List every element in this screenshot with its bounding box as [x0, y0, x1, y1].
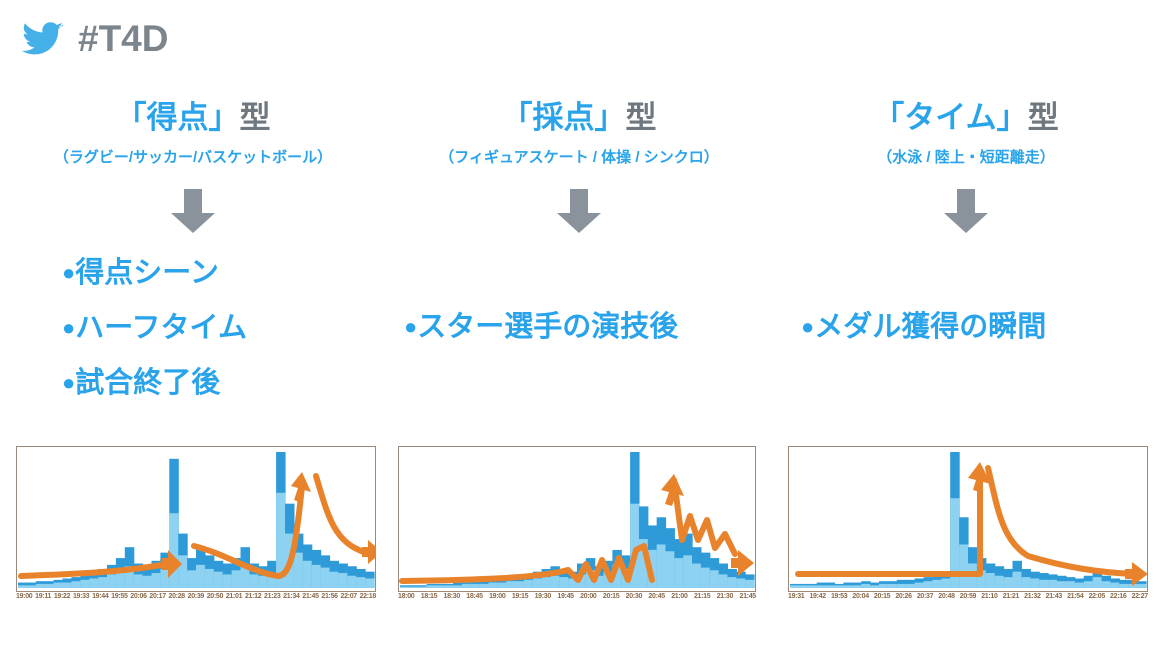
list-item: ●スター選手の演技後 — [404, 313, 772, 342]
chart-judging: 18:0018:1518:3018:4519:0019:1519:3019:45… — [398, 446, 756, 600]
column-title-suffix: 型 — [626, 100, 657, 135]
column-title-quoted: 「採点」 — [502, 100, 626, 135]
bar-sub — [152, 573, 162, 588]
bar-sub — [1119, 584, 1129, 588]
column-subtitle-scoring: （ラグビー/サッカー/バスケットボール） — [0, 146, 386, 167]
x-tick-label: 20:59 — [960, 593, 976, 600]
bar-sub — [1057, 581, 1067, 588]
bar-sub — [36, 584, 46, 588]
list-item-label: ハーフタイム — [75, 312, 247, 344]
chart-judging-plot — [398, 446, 756, 592]
bar-sub — [312, 565, 322, 588]
bar-sub — [888, 584, 898, 588]
x-tick-label: 21:45 — [302, 593, 318, 600]
bar-sub — [143, 576, 153, 588]
bar-sub — [1075, 583, 1085, 588]
chart-judging-xaxis: 18:0018:1518:3018:4519:0019:1519:3019:45… — [398, 593, 756, 600]
bar-sub — [223, 574, 233, 588]
bar-sub — [799, 585, 809, 588]
x-tick-label: 18:45 — [466, 593, 482, 600]
column-subtitle-judging: （フィギュアスケート / 体操 / シンクロ） — [386, 146, 772, 167]
column-title-judging: 「採点」型 — [386, 100, 772, 136]
bar-sub — [471, 584, 480, 588]
bar-sub — [533, 578, 542, 588]
list-item: ●ハーフタイム — [62, 314, 386, 343]
x-tick-label: 21:15 — [694, 593, 710, 600]
list-item: ●メダル獲得の瞬間 — [801, 313, 1159, 342]
x-tick-label: 21:34 — [283, 593, 299, 600]
bar-sub — [843, 585, 853, 588]
x-tick-label: 19:55 — [111, 593, 127, 600]
bullet-list-judging: ●スター選手の演技後 — [386, 313, 772, 342]
x-tick-label: 19:45 — [557, 593, 573, 600]
x-tick-label: 19:31 — [788, 593, 804, 600]
bar-sub — [924, 581, 934, 588]
bar-sub — [550, 576, 559, 588]
x-tick-label: 20:28 — [169, 593, 185, 600]
bar-sub — [249, 574, 259, 588]
bar-sub — [745, 580, 754, 588]
bar-sub — [710, 570, 719, 588]
bar-sub — [347, 576, 357, 588]
bar-sub — [897, 584, 907, 588]
bar-sub — [870, 585, 880, 588]
bullet-dot-icon: ● — [62, 315, 75, 340]
x-tick-label: 19:00 — [16, 593, 32, 600]
chart-row: 19:0019:1119:2219:3319:4419:5520:0620:17… — [0, 446, 1159, 616]
bar-sub — [71, 581, 81, 588]
bullet-list-scoring: ●得点シーン ●ハーフタイム ●試合終了後 — [0, 259, 386, 398]
bar-sub — [1013, 572, 1023, 588]
bar-sub — [453, 585, 462, 588]
bar-sub — [817, 585, 827, 588]
bar-sub — [18, 585, 28, 588]
arrow-wrap-scoring — [0, 189, 386, 233]
bar-sub — [683, 555, 692, 588]
x-tick-label: 19:30 — [535, 593, 551, 600]
x-tick-label: 22:07 — [340, 593, 356, 600]
down-arrow-icon — [170, 189, 216, 233]
x-tick-label: 21:54 — [1067, 593, 1083, 600]
list-item: ●得点シーン — [62, 259, 386, 288]
x-tick-label: 21:10 — [981, 593, 997, 600]
x-tick-label: 22:16 — [1110, 593, 1126, 600]
bar-sub — [736, 578, 745, 588]
bar-sub — [1030, 578, 1040, 588]
bar-sub — [444, 585, 453, 588]
x-tick-label: 21:45 — [739, 593, 755, 600]
x-tick-label: 20:00 — [580, 593, 596, 600]
x-tick-label: 19:53 — [831, 593, 847, 600]
x-tick-label: 19:00 — [489, 593, 505, 600]
bar-sub — [852, 585, 862, 588]
bar-sub — [932, 580, 942, 588]
column-scoring: 「得点」型 （ラグビー/サッカー/バスケットボール） ●得点シーン ●ハーフタイ… — [0, 100, 386, 424]
bar-sub — [187, 570, 197, 588]
x-tick-label: 20:39 — [188, 593, 204, 600]
bar-sub — [1102, 581, 1112, 588]
page-title: #T4D — [78, 20, 168, 57]
arrow-wrap-judging — [386, 189, 772, 233]
column-title-suffix: 型 — [240, 100, 271, 135]
category-columns: 「得点」型 （ラグビー/サッカー/バスケットボール） ●得点シーン ●ハーフタイ… — [0, 100, 1159, 440]
bar-sub — [80, 580, 90, 588]
bar-sub — [214, 572, 224, 588]
bullet-dot-icon: ● — [404, 314, 417, 339]
bar-sub — [524, 580, 533, 588]
list-item-label: 得点シーン — [75, 257, 219, 289]
bar-sub — [338, 573, 348, 588]
bar-sub — [1004, 577, 1014, 588]
bar-sub — [790, 585, 800, 588]
bar-sub — [808, 585, 818, 588]
bar-sub — [692, 564, 701, 588]
bar-sub — [205, 569, 215, 588]
bar-sub — [409, 587, 418, 588]
column-subtitle-time: （水泳 / 陸上・短距離走） — [773, 146, 1159, 167]
bullet-dot-icon: ● — [62, 260, 75, 285]
bar-sub — [116, 572, 126, 588]
x-tick-label: 19:22 — [54, 593, 70, 600]
down-arrow-icon — [556, 189, 602, 233]
bar-sub — [365, 578, 375, 588]
bar-sub — [995, 576, 1005, 588]
column-time: 「タイム」型 （水泳 / 陸上・短距離走） ●メダル獲得の瞬間 — [773, 100, 1159, 368]
bar-sub — [559, 577, 568, 588]
x-tick-label: 21:43 — [1046, 593, 1062, 600]
bar-sub — [674, 558, 683, 588]
x-tick-label: 21:21 — [1003, 593, 1019, 600]
x-tick-label: 21:23 — [264, 593, 280, 600]
bar-sub — [497, 583, 506, 588]
bar-sub — [959, 544, 969, 588]
bar-sub — [89, 578, 99, 588]
list-item: ●試合終了後 — [62, 369, 386, 398]
x-tick-label: 19:11 — [35, 593, 51, 600]
column-title-scoring: 「得点」型 — [0, 100, 386, 136]
bar-sub — [727, 577, 736, 588]
bar-sub — [27, 585, 37, 588]
x-tick-label: 20:17 — [149, 593, 165, 600]
bar-sub — [435, 585, 444, 588]
bar-sub — [232, 570, 242, 588]
chart-time-xaxis: 19:3119:4219:5320:0420:1520:2620:3720:48… — [788, 593, 1148, 600]
bar-sub — [489, 583, 498, 588]
bar-sub — [657, 544, 666, 588]
bar-sub — [906, 584, 916, 588]
bar-sub — [1048, 580, 1058, 588]
bullet-list-time: ●メダル獲得の瞬間 — [773, 313, 1159, 342]
x-tick-label: 20:45 — [648, 593, 664, 600]
list-item-label: メダル獲得の瞬間 — [814, 311, 1046, 343]
bar-sub — [418, 587, 427, 588]
chart-scoring-plot — [16, 446, 376, 592]
chart-time: 19:3119:4219:5320:0420:1520:2620:3720:48… — [788, 446, 1148, 600]
bar-sub — [1021, 577, 1031, 588]
x-tick-label: 18:00 — [398, 593, 414, 600]
x-tick-label: 21:56 — [321, 593, 337, 600]
x-tick-label: 20:48 — [938, 593, 954, 600]
bar-sub — [701, 568, 710, 588]
x-tick-label: 20:37 — [917, 593, 933, 600]
bar-sub — [462, 584, 471, 588]
x-tick-label: 20:50 — [207, 593, 223, 600]
x-tick-label: 19:44 — [92, 593, 108, 600]
column-title-time: 「タイム」型 — [773, 100, 1159, 136]
bar-sub — [719, 574, 728, 588]
bar-sub — [294, 553, 304, 588]
bar-sub — [1084, 581, 1094, 588]
bar-sub — [1039, 580, 1049, 588]
slide-root: #T4D 「得点」型 （ラグビー/サッカー/バスケットボール） ●得点シーン ●… — [0, 0, 1159, 648]
twitter-bird-icon — [22, 21, 64, 57]
bar-sub — [427, 585, 436, 588]
x-tick-label: 21:00 — [671, 593, 687, 600]
x-tick-label: 22:05 — [1089, 593, 1105, 600]
bar-sub — [542, 577, 551, 588]
bar-sub — [515, 581, 524, 588]
slide-header: #T4D — [22, 20, 168, 57]
bar-sub — [98, 577, 108, 588]
column-judging: 「採点」型 （フィギュアスケート / 体操 / シンクロ） ●スター選手の演技後 — [386, 100, 772, 368]
bar-sub — [986, 573, 996, 588]
bar-sub — [480, 584, 489, 588]
bar-sub — [1093, 577, 1103, 588]
x-tick-label: 20:26 — [895, 593, 911, 600]
x-tick-label: 21:32 — [1024, 593, 1040, 600]
bar-sub — [356, 577, 366, 588]
bar-sub — [178, 555, 188, 588]
column-title-quoted: 「得点」 — [116, 100, 240, 135]
chart-scoring: 19:0019:1119:2219:3319:4419:5520:0620:17… — [16, 446, 376, 600]
bar-sub — [169, 513, 179, 588]
x-tick-label: 20:06 — [130, 593, 146, 600]
bar-sub — [134, 574, 144, 588]
bar-sub — [1066, 581, 1076, 588]
x-tick-label: 21:30 — [717, 593, 733, 600]
x-tick-label: 21:01 — [226, 593, 242, 600]
x-tick-label: 19:42 — [809, 593, 825, 600]
bar-sub — [835, 585, 845, 588]
x-tick-label: 19:33 — [73, 593, 89, 600]
bar-sub — [1110, 583, 1120, 588]
x-tick-label: 20:15 — [874, 593, 890, 600]
bar-sub — [107, 574, 117, 588]
bar-sub — [330, 572, 340, 588]
bar-sub — [258, 576, 268, 588]
column-title-suffix: 型 — [1028, 100, 1059, 135]
arrow-wrap-time — [773, 189, 1159, 233]
list-item-label: 試合終了後 — [75, 367, 220, 399]
bar-sub — [941, 578, 951, 588]
bar-sub — [506, 581, 515, 588]
x-tick-label: 22:27 — [1132, 593, 1148, 600]
down-arrow-icon — [943, 189, 989, 233]
x-tick-label: 22:18 — [360, 593, 376, 600]
bar-sub — [45, 584, 55, 588]
x-tick-label: 19:15 — [512, 593, 528, 600]
bar-sub — [54, 583, 64, 588]
bullet-dot-icon: ● — [62, 370, 75, 395]
x-tick-label: 21:12 — [245, 593, 261, 600]
x-tick-label: 20:15 — [603, 593, 619, 600]
x-tick-label: 20:30 — [626, 593, 642, 600]
bar-sub — [196, 565, 206, 588]
bar-sub — [826, 585, 836, 588]
bar-sub — [879, 584, 889, 588]
column-title-quoted: 「タイム」 — [873, 100, 1027, 135]
bar-sub — [861, 584, 871, 588]
bar-sub — [400, 587, 409, 588]
chart-time-plot — [788, 446, 1148, 592]
x-tick-label: 18:15 — [421, 593, 437, 600]
bar-sub — [915, 583, 925, 588]
bar-sub — [1137, 584, 1147, 588]
bar-sub — [666, 551, 675, 588]
x-tick-label: 20:04 — [852, 593, 868, 600]
list-item-label: スター選手の演技後 — [417, 311, 678, 343]
chart-scoring-xaxis: 19:0019:1119:2219:3319:4419:5520:0620:17… — [16, 593, 376, 600]
x-tick-label: 18:30 — [444, 593, 460, 600]
bar-sub — [321, 568, 331, 588]
bullet-dot-icon: ● — [801, 314, 814, 339]
bar-sub — [63, 583, 73, 588]
bar-sub — [303, 561, 313, 588]
